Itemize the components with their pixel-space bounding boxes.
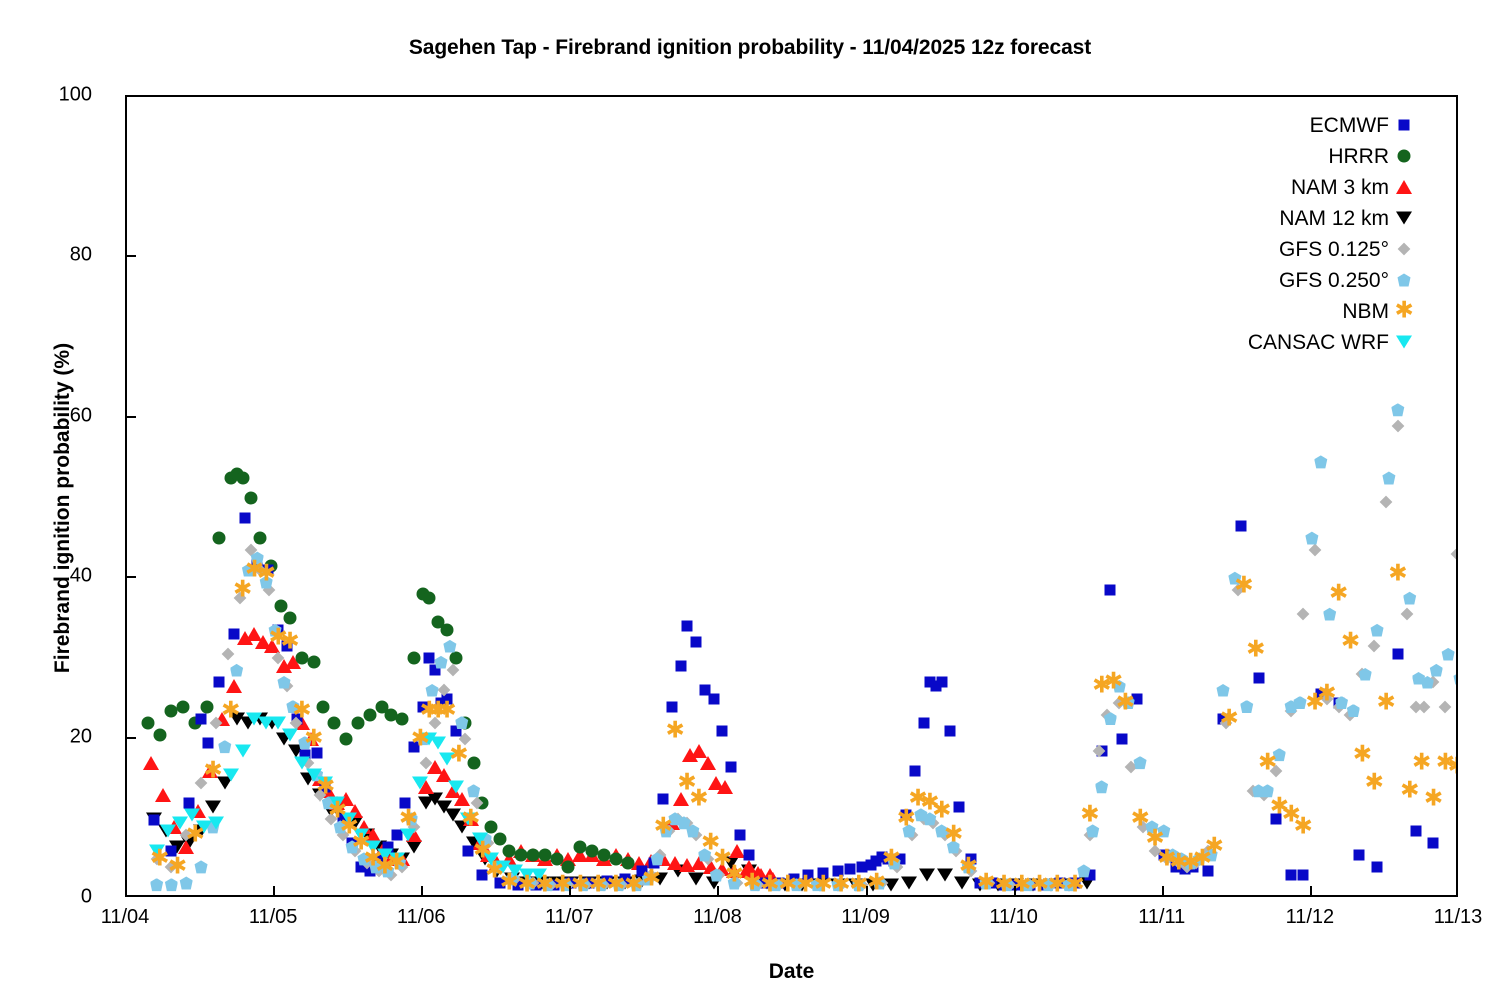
data-point: [489, 864, 505, 877]
data-point: [440, 624, 453, 637]
data-point: [550, 852, 563, 865]
data-point: [935, 824, 948, 837]
data-point: [794, 878, 810, 891]
data-point: [620, 852, 636, 866]
data-point: [658, 793, 669, 804]
data-point: [883, 853, 894, 864]
data-point: [177, 700, 190, 713]
data-point: [954, 801, 965, 812]
data-point: [895, 853, 906, 864]
data-point: [1220, 716, 1233, 729]
data-point: [526, 848, 539, 861]
data-point: [405, 812, 418, 825]
data-point: [690, 637, 701, 648]
data-point: ✱: [1157, 849, 1176, 868]
data-point: [448, 780, 464, 793]
data-point: ✱: [375, 857, 394, 876]
data-point: [752, 878, 765, 891]
data-point: ✱: [269, 629, 288, 648]
data-point: [1427, 676, 1440, 689]
data-point: [494, 861, 507, 874]
data-point: [699, 685, 710, 696]
data-point: [773, 877, 784, 888]
data-point: [233, 592, 246, 605]
data-point: [726, 864, 742, 878]
data-point: [871, 855, 882, 866]
data-point: [384, 708, 397, 721]
legend: ECMWFHRRRNAM 3 kmNAM 12 kmGFS 0.125°GFS …: [1150, 110, 1415, 358]
data-point: [1137, 820, 1150, 833]
data-point: [1356, 668, 1369, 681]
data-point: [1347, 704, 1360, 717]
data-point: [270, 716, 286, 729]
data-point: [1382, 471, 1395, 484]
data-point: [680, 816, 693, 829]
data-point: [735, 829, 746, 840]
data-point: [292, 713, 303, 724]
data-point: [608, 848, 624, 862]
data-point: [262, 565, 273, 576]
data-point: [184, 808, 200, 821]
data-point: ✱: [429, 701, 448, 720]
data-point: [434, 656, 447, 669]
data-point: [714, 862, 730, 876]
x-tick-mark: [1162, 886, 1164, 897]
x-tick-label: 11/06: [397, 906, 446, 929]
data-point: ✱: [1246, 641, 1265, 660]
data-point: [1273, 748, 1286, 761]
data-point: [424, 653, 435, 664]
data-point: [560, 852, 576, 866]
data-point: [1190, 857, 1203, 870]
data-point: ✱: [760, 875, 779, 894]
x-tick-label: 11/13: [1434, 906, 1483, 929]
data-point: [1132, 693, 1143, 704]
data-point: [282, 728, 298, 741]
data-point: [926, 816, 939, 829]
data-point: ✱: [245, 561, 264, 580]
data-point: [310, 768, 323, 781]
data-point: [914, 808, 927, 821]
data-point: [1253, 673, 1264, 684]
data-point: [1428, 837, 1439, 848]
data-point: ✱: [1145, 829, 1164, 848]
legend-item-gfs-0-250[interactable]: GFS 0.250°: [1150, 265, 1415, 296]
data-point: [455, 716, 468, 729]
data-point: [426, 684, 439, 697]
data-point: [903, 824, 916, 837]
data-point: [919, 868, 935, 881]
data-point: [317, 776, 333, 789]
data-point: [924, 677, 935, 688]
data-point: [1271, 813, 1282, 824]
data-point: [196, 713, 207, 724]
data-point: [1061, 878, 1077, 891]
data-point: [1083, 828, 1096, 841]
data-point: [230, 467, 243, 480]
data-point: ✱: [743, 873, 762, 892]
data-point: [146, 812, 162, 825]
data-point: [506, 872, 519, 885]
data-point: [679, 858, 695, 872]
data-point: [446, 664, 459, 677]
data-point: [681, 621, 692, 632]
data-point: [788, 873, 799, 884]
data-point: [923, 812, 936, 825]
data-point: [537, 852, 553, 866]
data-point: ✱: [796, 875, 815, 894]
data-point: [1086, 824, 1099, 837]
data-point: [432, 616, 445, 629]
data-point: [1160, 853, 1173, 866]
data-point: [513, 844, 529, 858]
data-point: [803, 869, 814, 880]
data-point: ✱: [1317, 685, 1336, 704]
data-point: [1380, 496, 1393, 509]
data-point: [1314, 455, 1327, 468]
data-point: [1042, 878, 1055, 891]
data-point: [713, 869, 726, 882]
data-point: [1371, 624, 1384, 637]
legend-marker-hexagon-icon: [1393, 265, 1415, 296]
data-point: [865, 860, 876, 871]
data-point: ✱: [316, 777, 335, 796]
data-point: [1205, 848, 1218, 861]
data-point: [372, 865, 385, 878]
data-point: ✱: [1282, 805, 1301, 824]
data-point: [341, 812, 357, 825]
data-point: [202, 764, 218, 778]
data-point: ✱: [689, 789, 708, 808]
data-point: ✱: [1048, 875, 1067, 894]
data-point: [301, 756, 314, 769]
data-point: [143, 756, 159, 770]
data-point: ✱: [363, 849, 382, 868]
data-point: [889, 855, 900, 866]
data-point: [409, 741, 420, 752]
data-point: [329, 796, 345, 809]
data-point: [190, 804, 206, 818]
data-point: [667, 856, 683, 870]
data-point: [1043, 878, 1059, 891]
data-point: [790, 878, 803, 891]
data-point: [667, 701, 678, 712]
data-point: [645, 869, 658, 882]
data-point: [723, 856, 739, 869]
data-point: [1104, 712, 1117, 725]
data-point: [389, 852, 405, 865]
data-point: [1451, 548, 1458, 561]
data-point: [356, 861, 367, 872]
data-point: [1391, 419, 1404, 432]
data-point: [1217, 684, 1230, 697]
data-point: [652, 872, 668, 885]
data-point: [710, 868, 723, 881]
data-point: [572, 848, 588, 862]
data-point: [856, 861, 867, 872]
data-point: [394, 852, 410, 866]
data-point: ✱: [1353, 745, 1372, 764]
legend-item-hrrr[interactable]: HRRR: [1150, 141, 1415, 172]
data-point: [1117, 733, 1128, 744]
y-tick-label: 60: [70, 404, 92, 427]
data-point: [619, 873, 630, 884]
data-point: [307, 656, 320, 669]
data-point: [772, 878, 785, 891]
y-tick-label: 40: [70, 565, 92, 588]
data-point: ✱: [221, 701, 240, 720]
data-point: [1096, 745, 1107, 756]
data-point: [888, 856, 901, 869]
data-point: [480, 848, 496, 862]
data-point: ✱: [186, 825, 205, 844]
data-point: [299, 749, 310, 760]
data-point: [835, 878, 848, 891]
data-point: [316, 700, 329, 713]
legend-item-gfs-0-125[interactable]: GFS 0.125°: [1150, 234, 1415, 265]
data-point: [1286, 869, 1297, 880]
x-tick-label: 11/05: [249, 906, 298, 929]
data-point: [306, 768, 322, 781]
data-point: [463, 812, 479, 826]
data-point: [209, 716, 222, 729]
data-point: [263, 584, 276, 597]
data-point: [1134, 756, 1147, 769]
data-point: [423, 592, 436, 605]
data-point: [832, 865, 843, 876]
data-point: [1418, 700, 1431, 713]
data-point: [213, 677, 224, 688]
data-point: ✱: [449, 745, 468, 764]
data-point: ✱: [1092, 677, 1111, 696]
data-point: [691, 744, 707, 758]
data-point: [212, 532, 225, 545]
data-point: ✱: [1400, 781, 1419, 800]
data-point: ✱: [1030, 875, 1049, 894]
data-point: ✱: [485, 861, 504, 880]
data-point: [246, 712, 262, 725]
data-point: [891, 861, 904, 874]
data-point: [544, 878, 557, 891]
data-point: ✱: [1181, 853, 1200, 872]
data-point: [1421, 676, 1434, 689]
data-point: [406, 840, 422, 853]
data-point: [329, 797, 340, 808]
data-point: [477, 852, 493, 865]
data-point: [909, 765, 920, 776]
data-point: [178, 840, 194, 854]
data-point: [1172, 857, 1185, 870]
y-tick-mark: [125, 255, 136, 257]
data-point: [337, 828, 350, 841]
data-point: [208, 816, 224, 829]
data-point: [1000, 878, 1013, 891]
data-point: [221, 648, 234, 661]
data-point: [990, 878, 1006, 891]
data-point: [205, 800, 221, 813]
data-point: [541, 878, 554, 891]
data-point: [637, 865, 648, 876]
data-point: [382, 841, 393, 852]
data-point: [701, 853, 714, 866]
data-point: [273, 625, 284, 636]
data-point: [281, 641, 292, 652]
data-point: [729, 844, 745, 858]
legend-item-nam-12-km[interactable]: NAM 12 km: [1150, 203, 1415, 234]
data-point: [818, 868, 829, 879]
data-point: [670, 864, 686, 877]
data-point: [503, 844, 516, 857]
data-point: [848, 878, 864, 891]
data-point: [369, 860, 382, 873]
data-point: [1008, 878, 1024, 891]
data-point: [814, 878, 827, 891]
data-point: [738, 864, 754, 878]
data-point: ✱: [1169, 853, 1188, 872]
data-point: [599, 876, 615, 889]
data-point: [975, 877, 986, 888]
data-point: [675, 661, 686, 672]
data-point: ✱: [588, 875, 607, 894]
y-tick-label: 100: [59, 84, 92, 107]
data-point: [217, 776, 233, 789]
data-point: [649, 857, 660, 868]
data-point: [1335, 696, 1348, 709]
data-point: [349, 845, 362, 858]
data-point: [584, 848, 600, 862]
data-point: [1297, 608, 1310, 621]
x-tick-mark: [1014, 886, 1016, 897]
data-point: [235, 744, 251, 757]
data-point: [491, 860, 504, 873]
data-point: ✱: [920, 793, 939, 812]
data-point: [945, 725, 956, 736]
data-point: ✱: [203, 761, 222, 780]
data-point: [346, 840, 359, 853]
data-point: [812, 878, 828, 891]
data-point: [218, 740, 231, 753]
data-point: [236, 471, 249, 484]
legend-item-cansac-wrf[interactable]: CANSAC WRF: [1150, 327, 1415, 358]
y-tick-label: 20: [70, 725, 92, 748]
data-point: [983, 877, 996, 890]
data-point: [298, 736, 311, 749]
data-point: [418, 701, 429, 712]
data-point: ✱: [340, 817, 359, 836]
data-point: [1145, 820, 1158, 833]
data-point: [1354, 849, 1365, 860]
data-point: [519, 876, 535, 889]
data-point: [538, 848, 551, 861]
data-point: [462, 845, 473, 856]
x-tick-mark: [569, 886, 571, 897]
legend-item-nbm[interactable]: NBM✱: [1150, 296, 1415, 327]
data-point: [844, 863, 855, 874]
data-point: [1409, 700, 1422, 713]
data-point: [669, 812, 682, 825]
data-point: [811, 878, 824, 891]
data-point: [1392, 649, 1403, 660]
x-tick-mark: [421, 886, 423, 897]
data-point: [617, 876, 633, 889]
data-point: [1125, 760, 1138, 773]
data-point: [1285, 704, 1298, 717]
data-point: [435, 697, 446, 708]
data-point: [352, 716, 365, 729]
data-point: [918, 717, 929, 728]
data-point: [673, 792, 689, 806]
legend-marker-circle-icon: [1393, 141, 1415, 172]
page-title: Sagehen Tap - Firebrand ignition probabi…: [0, 36, 1500, 60]
data-point: [1040, 879, 1051, 890]
legend-item-ecmwf[interactable]: ECMWF: [1150, 110, 1415, 141]
data-point: [1285, 700, 1298, 713]
data-point: [531, 868, 547, 881]
data-point: ✱: [473, 841, 492, 860]
data-point: [458, 732, 471, 745]
data-point: ✱: [725, 865, 744, 884]
data-point: [328, 716, 341, 729]
data-point: [830, 878, 846, 891]
data-point: [285, 655, 301, 669]
data-point: [504, 872, 520, 885]
data-point: [717, 725, 728, 736]
data-point: [420, 756, 433, 769]
data-point: [744, 849, 755, 860]
data-point: [930, 681, 941, 692]
data-point: [654, 849, 667, 862]
data-point: [1045, 878, 1058, 891]
data-point: [615, 878, 628, 891]
data-point: ✱: [1234, 577, 1253, 596]
data-point: [300, 772, 316, 785]
legend-item-nam-3-km[interactable]: NAM 3 km: [1150, 172, 1415, 203]
data-point: [193, 824, 209, 837]
data-point: [596, 852, 612, 866]
data-point: [689, 828, 702, 841]
data-point: [1359, 668, 1372, 681]
data-point: [581, 876, 597, 889]
data-point: [230, 664, 243, 677]
data-point: [777, 878, 793, 891]
data-point: ✱: [1104, 673, 1123, 692]
data-point: ✱: [994, 875, 1013, 894]
data-point: [340, 732, 353, 745]
data-point: [1439, 700, 1452, 713]
data-point: [347, 837, 358, 848]
data-point: [901, 809, 912, 820]
data-point: [586, 844, 599, 857]
data-point: [141, 716, 154, 729]
data-point: [672, 812, 685, 825]
data-point: ✱: [461, 809, 480, 828]
data-point: [1170, 861, 1181, 872]
data-point: [436, 768, 452, 782]
data-point: [254, 532, 267, 545]
x-tick-label: 11/09: [841, 906, 890, 929]
data-point: [513, 879, 524, 890]
data-point: [485, 820, 498, 833]
data-point: ✱: [257, 565, 276, 584]
data-point: [148, 815, 159, 826]
data-point: [472, 836, 488, 850]
data-point: ✱: [666, 721, 685, 740]
data-point: [429, 716, 442, 729]
data-point: [691, 856, 707, 870]
data-point: [609, 852, 622, 865]
data-point: [598, 878, 611, 891]
data-point: [312, 788, 328, 801]
